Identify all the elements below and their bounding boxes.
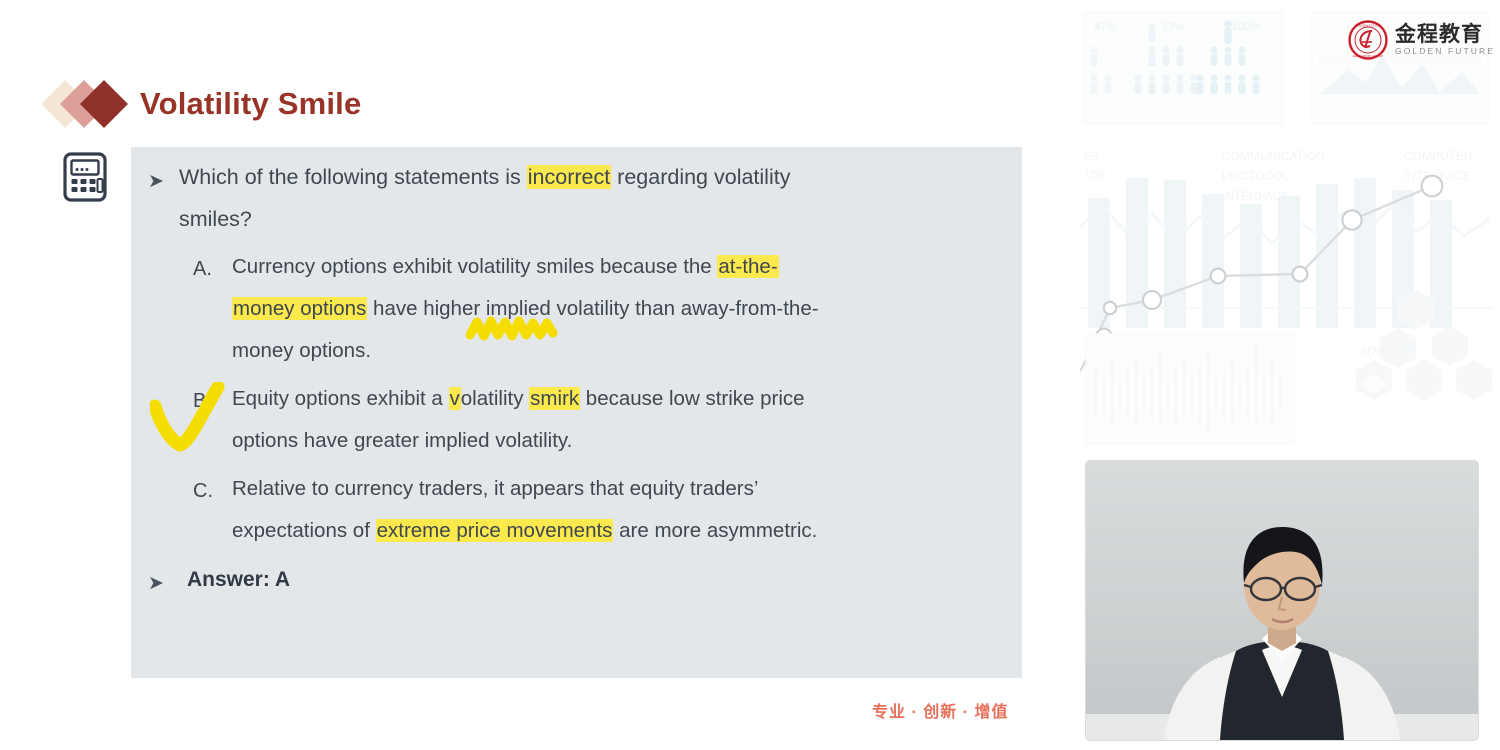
logo-chinese-name: 金程教育 xyxy=(1395,24,1495,46)
svg-text:COMMUNICATION: COMMUNICATION xyxy=(1222,149,1325,163)
question-text-a: Which of the following statements is xyxy=(179,165,527,189)
svg-text:40%: 40% xyxy=(1360,344,1386,359)
option-a-line-1: Currency options exhibit volatility smil… xyxy=(232,257,779,278)
option-a-text-b: have higher implied volatility than away… xyxy=(367,297,818,320)
diamond-decoration xyxy=(48,78,126,130)
option-c-highlight: extreme price movements xyxy=(376,519,614,542)
svg-text:ES: ES xyxy=(1084,151,1099,163)
question-highlight-incorrect: incorrect xyxy=(527,165,611,189)
option-a-line-2: money options have higher implied volati… xyxy=(232,299,819,320)
svg-text:47%: 47% xyxy=(1094,21,1116,33)
option-b-text-mid: olatility xyxy=(461,387,529,410)
logo-seal-icon: GOLDEN FUTURE EDUCATION GROUP xyxy=(1348,20,1388,60)
svg-text:EDUCATION GROUP: EDUCATION GROUP xyxy=(1353,54,1383,58)
answer-text: Answer: A xyxy=(187,569,290,590)
option-b-line-1: Equity options exhibit a volatility smir… xyxy=(232,389,805,410)
bullet-arrow-icon: ➤ xyxy=(148,172,164,191)
question-text-b: regarding volatility xyxy=(611,165,790,189)
calculator-icon xyxy=(63,152,107,202)
option-a-text-a: Currency options exhibit volatility smil… xyxy=(232,255,717,278)
slide-title-row: Volatility Smile xyxy=(48,78,361,130)
option-b-text-a: Equity options exhibit a xyxy=(232,387,449,410)
option-c-line-1: Relative to currency traders, it appears… xyxy=(232,479,758,500)
answer-bullet-arrow-icon: ➤ xyxy=(148,574,164,593)
instructor-video-panel[interactable] xyxy=(1086,461,1478,740)
logo-text: 金程教育 GOLDEN FUTURE xyxy=(1395,24,1495,56)
option-b-text-b: because low strike price xyxy=(580,387,804,410)
option-c-text-b: are more asymmetric. xyxy=(613,519,817,542)
svg-text:72: 72 xyxy=(1402,340,1416,355)
question-line-1: Which of the following statements is inc… xyxy=(179,167,790,189)
analytics-background-graphic: 47% 73% 100% xyxy=(1080,8,1492,448)
option-b-line-2: options have greater implied volatility. xyxy=(232,431,572,452)
brand-logo: GOLDEN FUTURE EDUCATION GROUP 金程教育 GOLDE… xyxy=(1348,20,1495,60)
option-b-highlight-2: smirk xyxy=(529,387,580,410)
option-c-line-2: expectations of extreme price movements … xyxy=(232,521,817,542)
svg-text:73%: 73% xyxy=(1162,21,1184,33)
option-c-text-a: expectations of xyxy=(232,519,376,542)
option-a-highlight-2: money options xyxy=(232,297,367,320)
svg-text:GOLDEN FUTURE: GOLDEN FUTURE xyxy=(1355,24,1381,28)
logo-english-name: GOLDEN FUTURE xyxy=(1395,46,1495,56)
svg-text:TER: TER xyxy=(1084,169,1106,181)
svg-text:PROTOCOL: PROTOCOL xyxy=(1222,169,1289,183)
question-line-2: smiles? xyxy=(179,209,252,231)
svg-text:100%: 100% xyxy=(1232,21,1260,33)
question-panel: ➤ Which of the following statements is i… xyxy=(131,147,1022,678)
option-c-letter: C. xyxy=(193,480,213,503)
page-title: Volatility Smile xyxy=(140,86,361,122)
option-a-line-3: money options. xyxy=(232,341,371,362)
instructor-video-frame xyxy=(1086,461,1478,740)
option-a-highlight-1: at-the- xyxy=(717,255,778,278)
svg-text:COMPUTER: COMPUTER xyxy=(1404,149,1473,163)
option-b-highlight-1: v xyxy=(449,387,461,410)
option-b-letter: B. xyxy=(193,390,212,413)
option-a-letter: A. xyxy=(193,258,212,281)
slide-root: Volatility Smile ➤ Which of the followin… xyxy=(0,0,1500,750)
footer-tagline: 专业 · 创新 · 增值 xyxy=(872,698,1008,722)
